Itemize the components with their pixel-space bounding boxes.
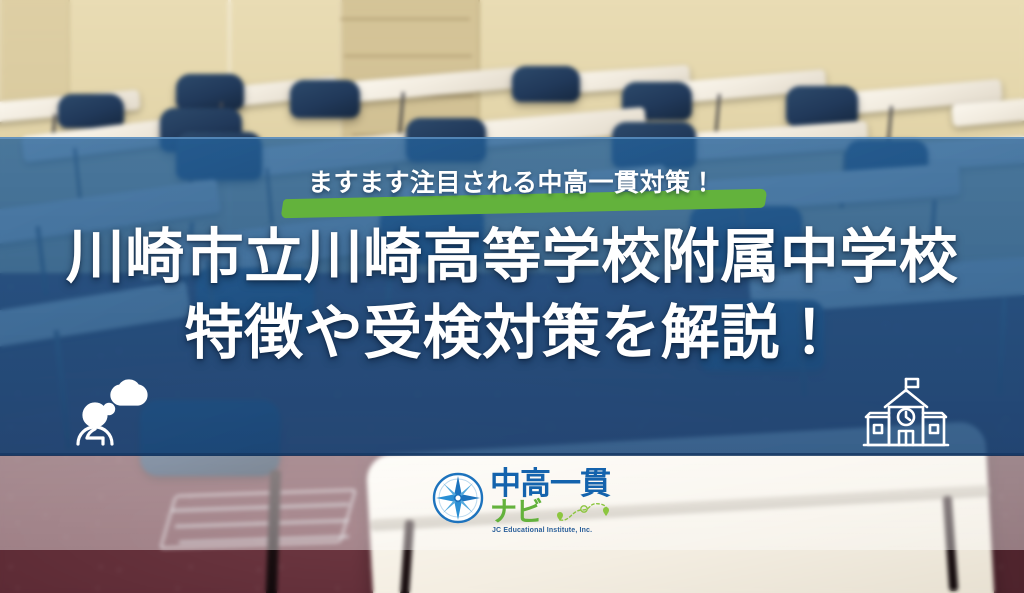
logo-corporate-name: JC Educational Institute, Inc. [492, 527, 592, 534]
article-header-banner: ますます注目される中高一貫対策！ 川崎市立川崎高等学校附属中学校 特徴や受検対策… [0, 0, 1024, 593]
site-logo[interactable]: 中高一貫 ナビ JC Educational Institute, Inc. [432, 466, 618, 540]
chair [512, 66, 580, 102]
banner-subtitle: ますます注目される中高一貫対策！ [308, 163, 716, 199]
subtitle-block: ますます注目される中高一貫対策！ [0, 163, 1024, 199]
thinking-person-icon [68, 372, 156, 454]
compass-rose-icon [432, 472, 484, 524]
logo-katakana-text: ナビ [490, 499, 542, 526]
banner-title-line-2: 特徴や受検対策を解説！ [0, 302, 1024, 365]
map-route-icon [554, 500, 618, 526]
chair [786, 86, 858, 126]
school-building-icon [860, 373, 952, 453]
chair [58, 94, 124, 128]
wall-stripe [344, 55, 472, 57]
wall-panel [0, 0, 70, 104]
band-top-divider [0, 137, 1024, 139]
wall-stripe [340, 18, 470, 20]
banner-title-line-1: 川崎市立川崎高等学校附属中学校 [0, 226, 1024, 289]
chair [176, 74, 244, 110]
logo-kanji-text: 中高一貫 [490, 468, 610, 499]
chair [290, 80, 360, 118]
